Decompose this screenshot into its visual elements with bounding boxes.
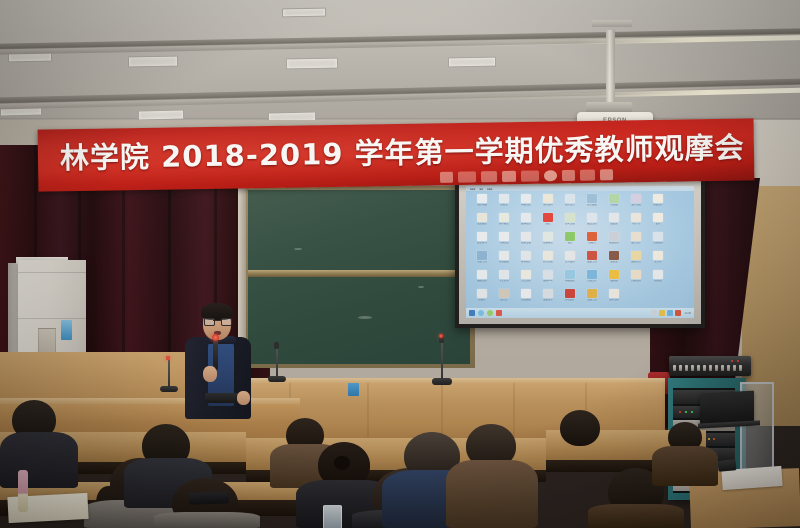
chalk-rail — [248, 270, 470, 277]
desktop-icon-glyph — [653, 194, 663, 203]
desktop-icon[interactable]: 新建文件 — [647, 194, 669, 213]
desktop-icon-glyph — [631, 194, 641, 203]
ceiling-light — [138, 109, 184, 120]
desktop-icon-glyph — [477, 232, 487, 241]
desktop-icon[interactable]: 图表工具 — [581, 251, 603, 270]
desktop-icon-glyph — [477, 289, 487, 298]
handheld-microphone[interactable] — [213, 338, 218, 370]
desktop-icon[interactable]: 教材PDF — [537, 270, 559, 289]
desktop-icon[interactable]: 森林培育 — [515, 213, 537, 232]
browser-icon[interactable] — [478, 310, 484, 316]
desktop-icon[interactable]: 课程表 — [603, 251, 625, 270]
desktop-icon-label: 压缩包 — [582, 242, 602, 245]
desktop-icon-label: 学生名单 — [494, 280, 514, 283]
desktop-icon[interactable]: 我的电脑 — [471, 194, 493, 213]
microphone-stem — [276, 346, 278, 378]
glasses-icon — [204, 318, 230, 324]
desktop-icon[interactable]: 说明文档 — [603, 289, 625, 308]
media-player-icon[interactable] — [496, 310, 502, 316]
desktop-icon[interactable]: 压缩包 — [581, 232, 603, 251]
desktop-icon-label: 实验报告 — [472, 223, 492, 226]
start-button-icon[interactable] — [469, 310, 475, 316]
desktop-icon-glyph — [543, 289, 553, 298]
desktop-icon[interactable]: 照片库 — [493, 289, 515, 308]
desktop-icon-glyph — [477, 270, 487, 279]
projection-screen: ■■■ ■■ ■■■ 我的电脑回收站网络邻居课件资料教学日历统计图表浏览器演示文… — [466, 186, 694, 318]
desktop-icon[interactable]: 通知公告 — [625, 251, 647, 270]
desktop-icon-glyph — [631, 232, 641, 241]
desktop-icon[interactable]: 论文资料 — [515, 270, 537, 289]
desktop-icon-label: 我的电脑 — [472, 204, 492, 207]
desktop-icon-label: 题库 — [538, 223, 558, 226]
desktop-icon-glyph — [587, 213, 597, 222]
desktop-icon[interactable]: 样方记录 — [537, 251, 559, 270]
desktop-icon-label: 电子书 — [626, 223, 646, 226]
desktop-icon-label: 音频文件 — [582, 280, 602, 283]
desktop-icon-label: 资源管理 — [648, 242, 668, 245]
desktop-icon-label: 旧课件 — [472, 299, 492, 302]
desktop-icon-label: 成绩表 — [604, 223, 624, 226]
desktop-icon[interactable]: 成绩表 — [603, 213, 625, 232]
speaker-hand-right — [237, 391, 250, 405]
desktop-icon-glyph — [609, 232, 619, 241]
desktop-icon-label: 实验数据 — [516, 299, 536, 302]
desktop-icon-label: 图片文件 — [626, 242, 646, 245]
desktop-icon-label: 样方记录 — [538, 261, 558, 264]
desktop-taskbar[interactable]: 14:36 — [466, 308, 694, 318]
desktop-icon[interactable]: 浏览器 — [603, 194, 625, 213]
desktop-icon-glyph — [631, 213, 641, 222]
water-bottle — [348, 383, 359, 396]
desktop-icon-glyph — [499, 213, 509, 222]
shield-icon[interactable] — [675, 310, 681, 316]
desktop-icon-label: 网络课程 — [560, 280, 580, 283]
desktop-icon[interactable]: 微信 — [559, 232, 581, 251]
desktop-icon-glyph — [565, 194, 575, 203]
desktop-icon-glyph — [499, 194, 509, 203]
desktop-icon[interactable]: 实验报告 — [471, 213, 493, 232]
audio-mixer — [669, 356, 751, 376]
desktop-icon-label: 备课笔记 — [538, 242, 558, 245]
microphone-led — [166, 356, 170, 360]
speaker-hand-left — [203, 366, 217, 382]
desktop-icon[interactable]: 林学概论 — [493, 213, 515, 232]
desktop-icon-label: 说明文档 — [604, 299, 624, 302]
ceiling-light — [282, 8, 326, 18]
desktop-icon[interactable]: 实习安排 — [559, 251, 581, 270]
desktop-icon[interactable]: 实验数据 — [515, 289, 537, 308]
desktop-icon-label: 绘图工具 — [582, 299, 602, 302]
desktop-icon-label: 林业数据 — [494, 261, 514, 264]
desktop-icon-glyph — [521, 232, 531, 241]
desktop-icon[interactable]: 标本照片 — [515, 251, 537, 270]
desktop-icon-label: 学期总结 — [494, 242, 514, 245]
desktop-icon-glyph — [653, 232, 663, 241]
desktop-icon-grid: 我的电脑回收站网络邻居课件资料教学日历统计图表浏览器演示文稿新建文件实验报告林学… — [471, 194, 671, 308]
desktop-icon[interactable]: 统计图表 — [581, 194, 603, 213]
desktop-icon-label: 网络邻居 — [516, 204, 536, 207]
desktop-icon[interactable]: 安装程序 — [537, 289, 559, 308]
desktop-icon-label: 论文资料 — [516, 280, 536, 283]
desktop-icon-label: 办公软件 — [560, 299, 580, 302]
desktop-icon[interactable]: 绘图工具 — [581, 289, 603, 308]
desktop-icon-label: 教学日历 — [560, 204, 580, 207]
desktop-icon[interactable]: 归档资料 — [625, 270, 647, 289]
desktop-icon-label: 系统工具 — [472, 261, 492, 264]
desktop-icon[interactable]: 办公软件 — [559, 289, 581, 308]
ac-energy-label — [61, 320, 72, 340]
desktop-icon-glyph — [587, 270, 597, 279]
desktop-icon[interactable]: 参考文献 — [559, 213, 581, 232]
desktop-icon[interactable]: 播放器 — [603, 270, 625, 289]
desktop-icon-glyph — [653, 213, 663, 222]
desktop-icon-glyph — [609, 194, 619, 203]
pen — [18, 470, 28, 512]
desktop-icon-glyph — [543, 232, 553, 241]
desktop-icon[interactable]: 演示文稿 — [625, 194, 647, 213]
desktop-icon-glyph — [565, 251, 575, 260]
desktop-icon-glyph — [565, 232, 575, 241]
desktop-icon-glyph — [587, 289, 597, 298]
mobile-phone[interactable] — [718, 459, 737, 472]
desktop-icon[interactable]: 课堂练习 — [471, 232, 493, 251]
desktop-icon-label: 播放器 — [604, 280, 624, 283]
desktop-icon-glyph — [499, 251, 509, 260]
ceiling-light — [128, 56, 178, 68]
microphone-led — [212, 334, 219, 341]
desktop-icon-label: 林学概论 — [494, 223, 514, 226]
desktop-icon[interactable]: 教研活动 — [471, 270, 493, 289]
desktop-icon-glyph — [477, 194, 487, 203]
network-icon[interactable] — [667, 310, 673, 316]
desktop-icon-glyph — [609, 270, 619, 279]
tray-window-icon[interactable] — [651, 310, 657, 316]
desktop-icon-glyph — [631, 270, 641, 279]
microphone-stem — [441, 340, 443, 380]
desktop-icon-label: 课堂练习 — [472, 242, 492, 245]
desktop-icon-label: 通知公告 — [626, 261, 646, 264]
desktop-icon[interactable]: 备份盘 — [647, 270, 669, 289]
microphone-head — [274, 342, 279, 349]
desktop-icon-label: 教研活动 — [472, 280, 492, 283]
mixer-controls[interactable] — [673, 365, 742, 371]
desktop-icon[interactable]: 教案文档 — [581, 213, 603, 232]
desktop-icon[interactable]: 旧课件 — [471, 289, 493, 308]
tablet-device[interactable] — [189, 491, 229, 504]
desktop-icon-label: 讲义 — [648, 223, 668, 226]
desktop-icon-glyph — [543, 194, 553, 203]
microphone-stem — [168, 360, 170, 388]
desktop-icon-glyph — [653, 251, 663, 260]
desktop-icon[interactable]: 备课笔记 — [537, 232, 559, 251]
desktop-icon[interactable]: 林业数据 — [493, 251, 515, 270]
desktop-icon-glyph — [631, 251, 641, 260]
desktop-icon-glyph — [499, 232, 509, 241]
desktop-icon-glyph — [521, 270, 531, 279]
desktop-icon-label: 教案文档 — [582, 223, 602, 226]
taskbar-clock: 14:36 — [685, 312, 692, 315]
desktop-icon-glyph — [499, 270, 509, 279]
desktop-icon-glyph — [543, 270, 553, 279]
desktop-icon[interactable]: 题库 — [537, 213, 559, 232]
desktop-icon[interactable]: 文件夹 — [647, 251, 669, 270]
desktop-icon-glyph — [653, 270, 663, 279]
desktop-icon-label: 标本照片 — [516, 261, 536, 264]
desktop-icon[interactable]: 期末试卷 — [515, 232, 537, 251]
desktop-icon[interactable]: 学期总结 — [493, 232, 515, 251]
desktop-icon-glyph — [565, 289, 575, 298]
desktop-icon-label: 备份盘 — [648, 280, 668, 283]
desktop-icon-glyph — [543, 251, 553, 260]
desktop-icon-glyph — [499, 289, 509, 298]
lecture-hall-photo: EPSON ■■■ ■■ ■■■ 我的电脑回收站网络邻居课件资料教学日历统计图表… — [0, 0, 800, 528]
projector-mount-plate — [592, 20, 632, 27]
desktop-icon[interactable]: 网络邻居 — [515, 194, 537, 213]
desktop-icon-glyph — [609, 251, 619, 260]
desktop-icon-glyph — [477, 213, 487, 222]
desktop-icon-label: 图表工具 — [582, 261, 602, 264]
desktop-icon-label: 参考文献 — [560, 223, 580, 226]
desktop-icon[interactable]: 电子书 — [625, 213, 647, 232]
microphone-led — [439, 334, 443, 338]
ceiling-light — [448, 57, 496, 68]
desktop-icon-label: 回收站 — [494, 204, 514, 207]
ceiling — [0, 0, 800, 132]
desktop-icon-label: 实习安排 — [560, 261, 580, 264]
desktop-icon-glyph — [609, 213, 619, 222]
desktop-icon-label: 课程表 — [604, 261, 624, 264]
desktop-icon-glyph — [521, 251, 531, 260]
desktop-top-strip: ■■■ ■■ ■■■ — [466, 186, 694, 191]
desktop-icon[interactable]: 视频素材 — [603, 232, 625, 251]
desktop-icon-glyph — [565, 270, 575, 279]
desktop-icon-glyph — [543, 213, 553, 222]
desktop-icon-glyph — [587, 232, 597, 241]
ceiling-light — [286, 58, 338, 70]
drinking-glass — [323, 505, 342, 528]
desktop-icon-glyph — [521, 213, 531, 222]
desktop-icon[interactable]: 音频文件 — [581, 270, 603, 289]
desktop-icon-label: 文件夹 — [648, 261, 668, 264]
desktop-icon[interactable]: 资源管理 — [647, 232, 669, 251]
volume-icon[interactable] — [659, 310, 665, 316]
desktop-icon-glyph — [521, 289, 531, 298]
blackboard — [248, 190, 470, 364]
desktop-icon-label: 归档资料 — [626, 280, 646, 283]
desktop-icon[interactable]: 教学日历 — [559, 194, 581, 213]
desktop-icon-label: 课件资料 — [538, 204, 558, 207]
desktop-icon-label: 新建文件 — [648, 204, 668, 207]
desktop-icon-label: 照片库 — [494, 299, 514, 302]
desktop-icon-label: 统计图表 — [582, 204, 602, 207]
desktop-icon-glyph — [521, 194, 531, 203]
desktop-icon-label: 浏览器 — [604, 204, 624, 207]
desktop-icon[interactable]: 讲义 — [647, 213, 669, 232]
desktop-icon-glyph — [587, 194, 597, 203]
desktop-icon-glyph — [587, 251, 597, 260]
desktop-icon-glyph — [609, 289, 619, 298]
desktop-icon-glyph — [477, 251, 487, 260]
mixer-led — [737, 360, 739, 362]
desktop-icon[interactable]: 回收站 — [493, 194, 515, 213]
mixer-led — [731, 360, 733, 362]
desktop-icon-label: 森林培育 — [516, 223, 536, 226]
taskbar-left-group[interactable] — [469, 310, 502, 316]
system-tray[interactable]: 14:36 — [651, 310, 692, 316]
desktop-icon[interactable]: 网络课程 — [559, 270, 581, 289]
desktop-icon[interactable]: 系统工具 — [471, 251, 493, 270]
app-icon[interactable] — [487, 310, 493, 316]
desktop-icon-label: 期末试卷 — [516, 242, 536, 245]
desktop-icon[interactable]: 学生名单 — [493, 270, 515, 289]
desktop-icon-label: 安装程序 — [538, 299, 558, 302]
desktop-icon-label: 视频素材 — [604, 242, 624, 245]
desktop-icon-label: 教材PDF — [538, 280, 558, 283]
desktop-icon-label: 微信 — [560, 242, 580, 245]
desktop-icon-label: 演示文稿 — [626, 204, 646, 207]
desktop-icon-glyph — [565, 213, 575, 222]
desktop-icon[interactable]: 课件资料 — [537, 194, 559, 213]
projector-pole — [606, 30, 615, 108]
desktop-icon[interactable]: 图片文件 — [625, 232, 647, 251]
